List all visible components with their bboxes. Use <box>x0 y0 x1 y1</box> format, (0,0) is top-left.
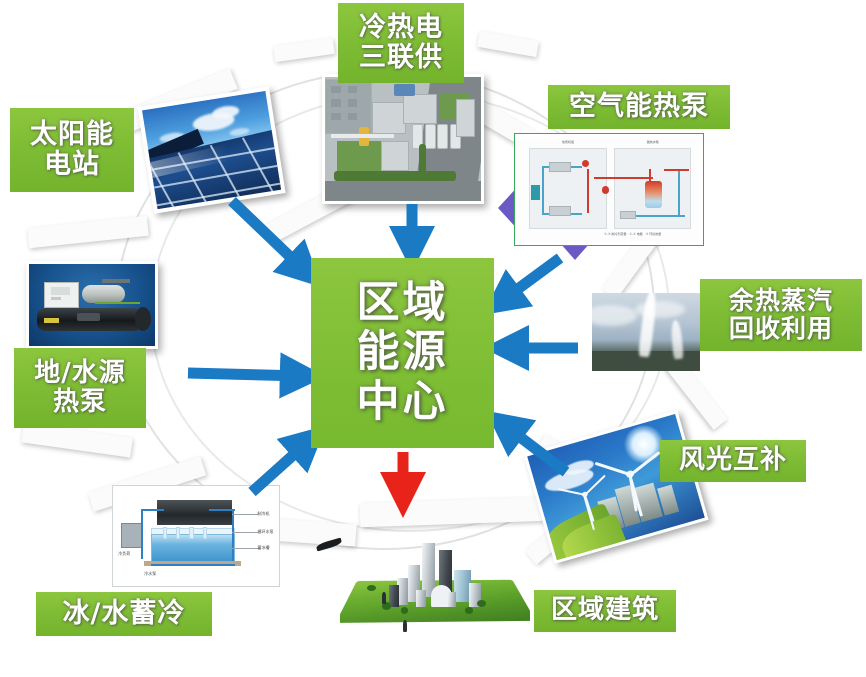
diagram-canvas: 热泵机组 储热水箱 ①-④ 制冷剂流量 · ①-② 电能 · ③ 环境热量 <box>0 0 866 677</box>
chiller-image <box>29 264 155 346</box>
wind-solar-image <box>527 414 705 560</box>
heat-pump-schematic: 热泵机组 储热水箱 ①-④ 制冷剂流量 · ①-② 电能 · ③ 环境热量 <box>514 133 704 246</box>
label-air-source-heat-pump: 空气能热泵 <box>548 85 730 129</box>
arrow-airheatpump-to-center <box>500 258 560 302</box>
paper-strip <box>27 216 148 248</box>
schematic-caption-left: 热泵机组 <box>529 140 607 144</box>
label-solar-line-1: 太阳能 <box>30 120 114 150</box>
label-regional-buildings: 区域建筑 <box>534 590 676 632</box>
label-ground-water-line-2: 热泵 <box>34 388 126 417</box>
steam-photo <box>592 293 700 371</box>
cchp-plant-photo <box>322 74 484 204</box>
ice-label-circulation-pump: 循环水泵 <box>258 529 274 535</box>
label-waste-heat-line-2: 回收利用 <box>729 315 833 343</box>
label-ice-water-storage: 冰/水蓄冷 <box>36 592 212 636</box>
ice-label-cooling-load: 冷负荷 <box>118 551 130 557</box>
label-air-source-heat-pump-text: 空气能热泵 <box>569 92 709 122</box>
cchp-plant-image <box>325 77 481 201</box>
label-ice-water-storage-text: 冰/水蓄冷 <box>63 599 186 629</box>
label-ground-water-line-1: 地/水源 <box>34 359 126 388</box>
schematic-caption-right: 储热水箱 <box>614 140 690 144</box>
center-hub-label: 区域 能源 中心 <box>357 279 449 426</box>
center-hub-line-3: 中心 <box>357 378 449 427</box>
ice-label-ice-tank: 蓄冰槽 <box>258 545 270 551</box>
label-wind-solar-text: 风光互补 <box>679 446 787 475</box>
solar-panel-image <box>142 91 281 209</box>
ice-storage-schematic-image: 制冷机 循环水泵 蓄冰槽 冷水泵 冷负荷 <box>115 488 277 584</box>
label-regional-buildings-text: 区域建筑 <box>551 596 659 625</box>
city-model-image <box>340 528 530 652</box>
label-wind-solar-hybrid: 风光互补 <box>660 440 806 482</box>
wind-solar-photo <box>523 410 708 564</box>
ice-label-chilled-water-pump: 冷水泵 <box>144 571 156 577</box>
label-cchp-line-2: 三联供 <box>359 43 443 73</box>
label-cchp-line-1: 冷热电 <box>359 13 443 43</box>
chiller-photo <box>26 261 158 349</box>
center-hub-line-2: 能源 <box>357 328 449 377</box>
label-waste-heat-line-1: 余热蒸汽 <box>729 287 833 315</box>
center-hub-line-1: 区域 <box>357 279 449 328</box>
ice-label-chiller: 制冷机 <box>258 511 270 517</box>
heat-pump-schematic-image: 热泵机组 储热水箱 ①-④ 制冷剂流量 · ①-② 电能 · ③ 环境热量 <box>518 137 700 242</box>
paper-strip <box>477 31 539 57</box>
label-waste-heat-steam: 余热蒸汽 回收利用 <box>700 279 862 351</box>
solar-panel-photo <box>137 86 285 213</box>
steam-image <box>592 293 700 371</box>
arrow-groundheatpump-to-center <box>188 373 304 376</box>
paper-strip <box>360 497 551 528</box>
ice-storage-schematic: 制冷机 循环水泵 蓄冰槽 冷水泵 冷负荷 <box>112 485 280 587</box>
paper-strip <box>273 38 335 62</box>
center-energy-hub: 区域 能源 中心 <box>311 258 494 448</box>
label-solar-line-2: 电站 <box>30 150 114 180</box>
schematic-footnote: ①-④ 制冷剂流量 · ①-② 电能 · ③ 环境热量 <box>573 232 693 236</box>
city-model-image-frame <box>340 528 530 652</box>
label-ground-water-heat-pump: 地/水源 热泵 <box>14 348 146 428</box>
label-solar-power-station: 太阳能 电站 <box>10 108 134 192</box>
label-cchp: 冷热电 三联供 <box>338 3 464 83</box>
